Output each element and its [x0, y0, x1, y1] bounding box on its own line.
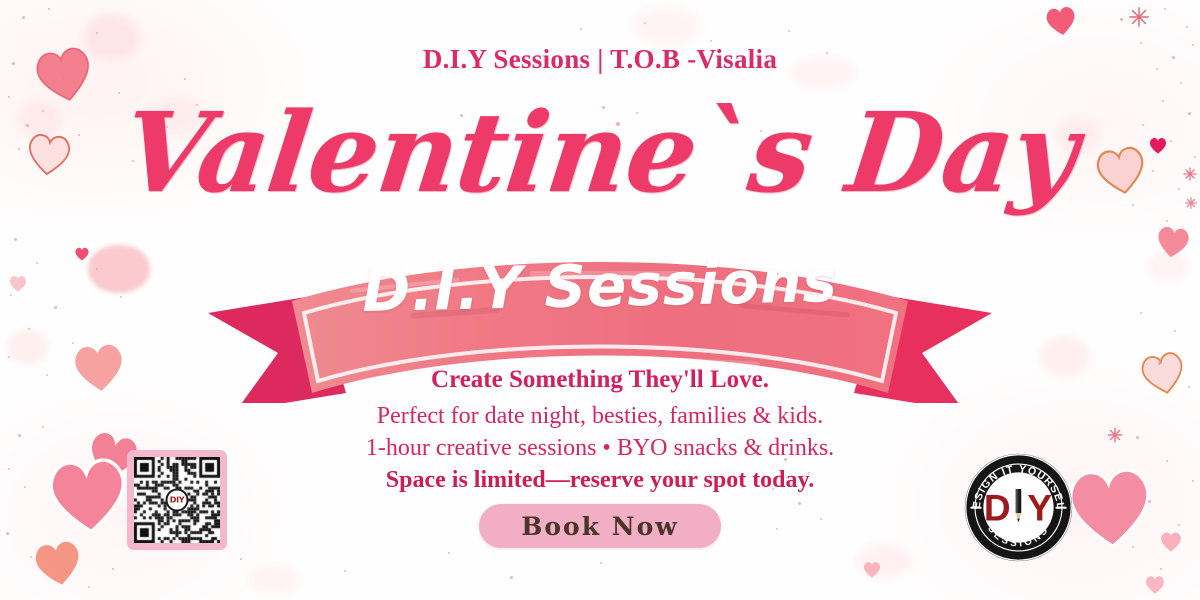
sparkle-icon	[1128, 6, 1150, 28]
page-title: Valentine`s Day	[0, 86, 1200, 220]
qr-center-logo: DIY	[166, 489, 189, 512]
watercolor-blob	[8, 330, 48, 364]
qr-code-matrix[interactable]: DIY	[134, 457, 220, 543]
diy-sessions-logo: DESIGN IT YOURSELF SESSIONS D Y	[963, 452, 1074, 563]
heart-decoration	[1144, 574, 1166, 594]
body-line-1: Perfect for date night, besties, familie…	[0, 401, 1200, 433]
logo-letter-d: D	[984, 487, 1011, 528]
book-now-button[interactable]: Book Now	[479, 504, 721, 548]
tagline: Create Something They'll Love.	[0, 366, 1200, 394]
watercolor-blob	[632, 6, 702, 46]
heart-decoration	[862, 560, 882, 578]
logo-letter-y: Y	[1027, 487, 1052, 528]
event-subtitle: D.I.Y Sessions | T.O.B -Visalia	[0, 44, 1200, 75]
qr-code[interactable]: DIY	[127, 450, 227, 550]
heart-decoration	[74, 246, 90, 261]
heart-decoration	[1042, 2, 1080, 38]
heart-decoration	[1158, 530, 1184, 552]
ribbon-label: D.I.Y Sessions	[0, 239, 1200, 332]
watercolor-blob	[250, 566, 300, 594]
valentines-day-event-banner: D.I.Y Sessions | T.O.B -Visalia Valentin…	[0, 0, 1200, 600]
heart-decoration	[26, 534, 89, 591]
watercolor-blob	[856, 544, 912, 578]
speckle-cluster	[180, 540, 700, 600]
